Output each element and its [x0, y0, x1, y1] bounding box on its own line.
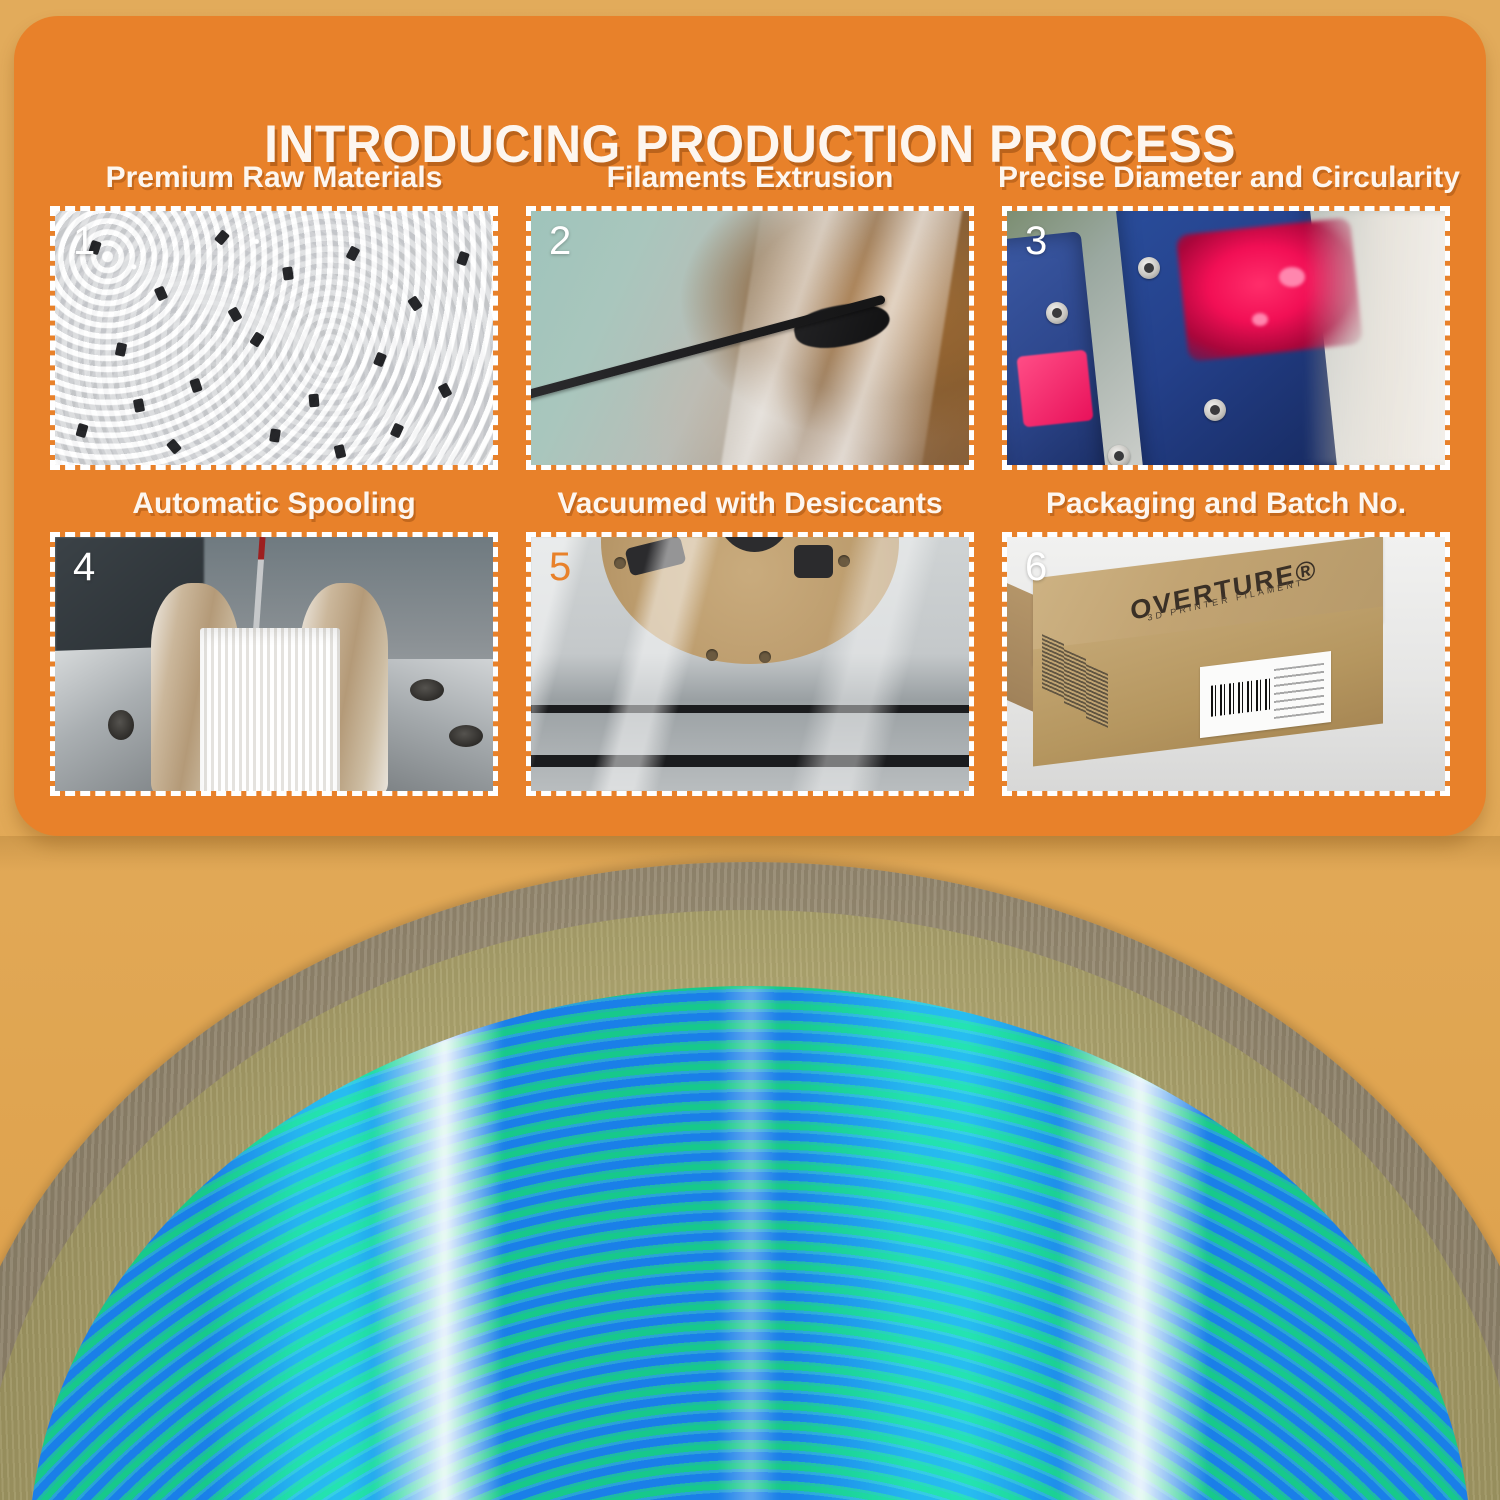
step-2-caption: Filaments Extrusion: [522, 158, 978, 204]
packaging-box-photo: OVERTURE® 3D PRINTER FILAMENT 6: [1007, 537, 1445, 791]
process-step-3[interactable]: Precise Diameter and Circularity 3: [998, 158, 1454, 478]
hero-filament-spool-photo: [0, 836, 1500, 1500]
process-step-1[interactable]: Premium Raw Materials: [46, 158, 502, 478]
step-1-caption: Premium Raw Materials: [46, 158, 502, 204]
step-5-number: 5: [549, 547, 571, 587]
barcode: [1210, 678, 1273, 717]
process-step-6[interactable]: Packaging and Batch No. OVERTURE® 3D PRI…: [998, 484, 1454, 804]
step-3-photo-frame: 3: [1002, 206, 1450, 470]
step-1-photo-frame: 1: [50, 206, 498, 470]
vacuum-sealed-spool-photo: 5: [531, 537, 969, 791]
filament-extrusion-photo: 2: [531, 211, 969, 465]
step-4-caption: Automatic Spooling: [46, 484, 502, 530]
step-5-caption: Vacuumed with Desiccants: [522, 484, 978, 530]
step-3-number: 3: [1025, 221, 1047, 261]
step-4-number: 4: [73, 547, 95, 587]
step-6-caption: Packaging and Batch No.: [998, 484, 1454, 530]
production-process-panel: INTRODUCING PRODUCTION PROCESS Premium R…: [14, 16, 1486, 836]
step-2-number: 2: [549, 221, 571, 261]
laser-diameter-gauge-photo: 3: [1007, 211, 1445, 465]
process-step-2[interactable]: Filaments Extrusion 2: [522, 158, 978, 478]
step-3-caption: Precise Diameter and Circularity: [998, 158, 1454, 204]
process-steps-row-1: Premium Raw Materials: [14, 158, 1486, 478]
process-step-4[interactable]: Automatic Spooling 4: [46, 484, 502, 804]
process-steps-row-2: Automatic Spooling 4 Vacuu: [14, 484, 1486, 804]
step-2-photo-frame: 2: [526, 206, 974, 470]
plastic-pellets-photo: 1: [55, 211, 493, 465]
step-1-number: 1: [73, 221, 95, 261]
spooling-machine-photo: 4: [55, 537, 493, 791]
process-step-5[interactable]: Vacuumed with Desiccants 5: [522, 484, 978, 804]
step-5-photo-frame: 5: [526, 532, 974, 796]
step-6-photo-frame: OVERTURE® 3D PRINTER FILAMENT 6: [1002, 532, 1450, 796]
step-4-photo-frame: 4: [50, 532, 498, 796]
step-6-number: 6: [1025, 547, 1047, 587]
label-text-lines: [1273, 663, 1323, 719]
